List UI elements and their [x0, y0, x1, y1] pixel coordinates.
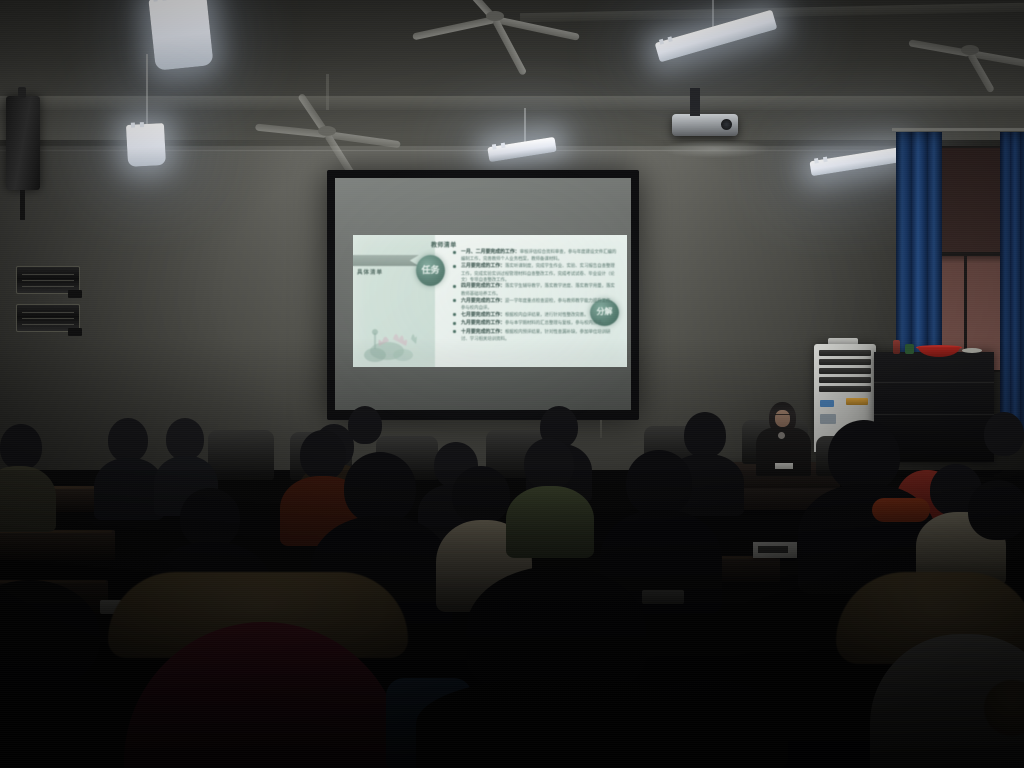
slide-ribbon-label: 具体清单: [357, 268, 383, 276]
panel-tab: [68, 328, 82, 336]
slide-bullet-item: 七月要完成的工作：根据校内自评结果，进行针对性整改完善。: [453, 312, 618, 319]
ceiling-projector: [672, 114, 738, 136]
bullet-text: 参与本学期材料的汇总整理与复核，参与校内预评。: [505, 320, 606, 325]
projector-light-spill: [660, 140, 770, 158]
person-body-olive: [506, 486, 594, 558]
ceiling-fan-1: [400, 0, 590, 46]
panel-tab: [68, 290, 82, 298]
person-head: [348, 406, 382, 444]
panel-slit: [22, 324, 74, 325]
slide-badge-task: 任务: [416, 255, 445, 286]
tube-light-2: [126, 123, 166, 167]
fan-hub: [486, 11, 504, 21]
slide-bullet-item: 四月要完成的工作：落实学生辅导教学，落实教学进度、落实教学用量，落实教师基础培养…: [453, 283, 618, 296]
fan-hub: [318, 126, 336, 136]
person-head: [968, 480, 1024, 540]
bench-phone-icon: [758, 546, 788, 553]
slide-bullet-item: 六月要完成的工作：迎一学年度重点检查迎检，参与教师教学能力提升工作，参与校内自评…: [453, 298, 618, 311]
person-body: [0, 466, 56, 532]
ac-vent: [819, 359, 871, 365]
bullet-heading: 十月要完成的工作：: [461, 330, 505, 335]
bullet-text: 根据校内自评结果，进行针对性整改完善。: [505, 312, 588, 317]
slide-bullet-item: 三月要完成的工作：落实听课制度，完成学生作业、实验、实习报告自查整理工作，完成实…: [453, 263, 618, 282]
panel-slit: [22, 318, 74, 319]
ac-label-yellow: [846, 398, 868, 405]
person-head: [108, 418, 148, 462]
classroom-photo-scene: 具体清单 教师清单 任务 分解 一月、二月要完成的工作：审核评估综合资料审查，参…: [0, 0, 1024, 768]
presenter-face: [775, 410, 790, 427]
bench-papers-center: [642, 590, 684, 604]
light-rod: [146, 54, 148, 126]
speaker-stem: [20, 190, 25, 220]
panel-slit: [22, 280, 74, 281]
screen-surface: 具体清单 教师清单 任务 分解 一月、二月要完成的工作：审核评估综合资料审查，参…: [335, 178, 631, 410]
person-head: [524, 438, 574, 490]
shelf-white-plate: [962, 348, 982, 353]
bullet-heading: 六月要完成的工作：: [461, 299, 505, 304]
right-wall-window: [934, 146, 1008, 372]
bullet-heading: 三月要完成的工作：: [461, 264, 505, 269]
slide-bullet-list: 一月、二月要完成的工作：审核评估综合资料审查，参与年度建设文件汇编的编制工作，完…: [453, 249, 618, 343]
bullet-heading: 一月、二月要完成的工作：: [461, 250, 520, 255]
presenter-collar-detail: [778, 432, 785, 439]
slide-ribbon-banner: [353, 255, 419, 266]
orange-scarf: [872, 498, 930, 522]
person-head: [984, 412, 1024, 456]
person-head: [452, 466, 510, 524]
bullet-heading: 九月要完成的工作：: [461, 321, 505, 326]
ceiling-fan-3: [900, 28, 1024, 72]
fan-blade: [412, 16, 496, 40]
shelf-bottle-icon: [893, 340, 900, 354]
slide-bullet-item: 十月要完成的工作：根据校内预评结果，针对性查漏补缺，参加单位培训研讨、学习相关培…: [453, 329, 618, 342]
presenter-glasses-icon: [775, 414, 790, 418]
speaker-knob-icon: [18, 87, 26, 98]
projected-slide: 具体清单 教师清单 任务 分解 一月、二月要完成的工作：审核评估综合资料审查，参…: [353, 235, 627, 367]
projector-lens-icon: [721, 119, 732, 130]
projector-mount: [690, 88, 700, 116]
person-head: [628, 680, 788, 768]
person-head: [626, 450, 692, 516]
person-head: [344, 452, 416, 524]
shelf-green-item: [905, 344, 914, 354]
person-head: [828, 420, 900, 492]
wall-control-panels: [16, 266, 82, 332]
ac-vent: [819, 350, 871, 356]
panel-slit: [22, 286, 74, 287]
fan-hub: [961, 45, 979, 55]
person-head: [466, 566, 646, 694]
ac-label-blue: [820, 400, 834, 407]
shelf-line: [874, 382, 994, 383]
person-head: [0, 424, 42, 470]
screen-pull-cord[interactable]: [600, 420, 602, 438]
person-head: [180, 488, 240, 548]
shelf-line: [874, 414, 994, 415]
ceiling-beam: [0, 96, 1024, 110]
ac-display-panel[interactable]: [820, 414, 836, 424]
panel-slit: [22, 312, 74, 313]
bench-row-2: [0, 530, 115, 560]
ac-vent: [819, 377, 871, 383]
ceiling-fan-2: [252, 108, 402, 154]
slide-bullet-item: 一月、二月要完成的工作：审核评估综合资料审查，参与年度建设文件汇编的编制工作，完…: [453, 249, 618, 262]
bullet-heading: 四月要完成的工作：: [461, 284, 505, 289]
ac-vent: [819, 368, 871, 374]
curtain-rod: [892, 128, 1024, 131]
window-curtain-right[interactable]: [1000, 132, 1024, 432]
slide-bullet-item: 九月要完成的工作：参与本学期材料的汇总整理与复核，参与校内预评。: [453, 320, 618, 327]
projection-screen: 具体清单 教师清单 任务 分解 一月、二月要完成的工作：审核评估综合资料审查，参…: [327, 170, 639, 420]
tube-light-1: [148, 0, 213, 71]
window-mullion-horizontal: [936, 252, 1006, 256]
panel-slit: [22, 274, 74, 275]
person-head: [300, 430, 346, 480]
person-head: [684, 412, 726, 458]
slide-title: 教师清单: [431, 240, 457, 249]
presenter-papers: [775, 463, 793, 469]
chair-back: [208, 430, 274, 480]
bullet-heading: 七月要完成的工作：: [461, 313, 505, 318]
lotus-flower-decoration: [363, 315, 429, 367]
person-head: [166, 418, 204, 460]
fan-rod: [326, 74, 329, 110]
ac-vent: [819, 386, 871, 392]
wall-speaker: [6, 96, 40, 190]
